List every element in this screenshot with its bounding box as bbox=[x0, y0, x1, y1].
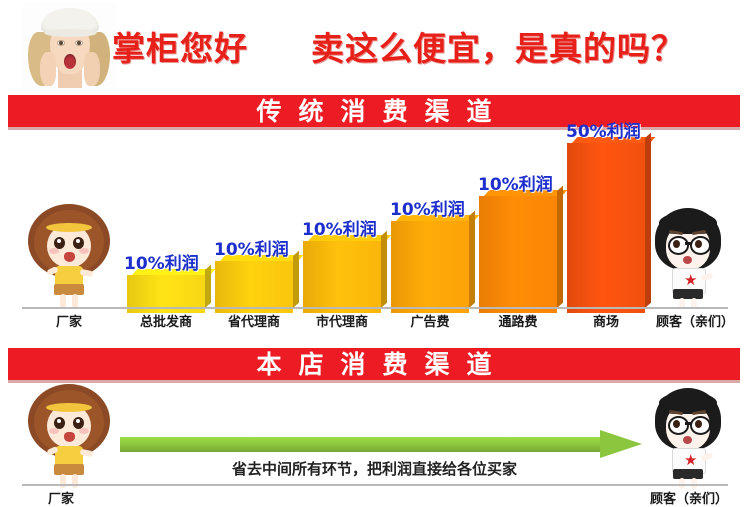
manufacturer-character bbox=[26, 204, 112, 308]
xlabel-manufacturer: 厂家 bbox=[34, 311, 104, 330]
xlabel-1: 省代理商 bbox=[215, 311, 293, 330]
bottom-baseline bbox=[22, 484, 728, 486]
bar-3 bbox=[391, 221, 469, 313]
poster-root: 掌柜您好 卖这么便宜，是真的吗？ 传统消费渠道 bbox=[0, 0, 749, 506]
profit-label-2: 10%利润 bbox=[302, 215, 377, 240]
xlabel-4: 通路费 bbox=[479, 311, 557, 330]
surprised-woman-photo bbox=[22, 2, 116, 88]
xlabel-customer: 顾客（亲们） bbox=[648, 311, 742, 330]
bar-4 bbox=[479, 196, 557, 313]
direct-channel-arrow bbox=[120, 432, 642, 456]
bar-2 bbox=[303, 241, 381, 313]
xlabel-0: 总批发商 bbox=[127, 311, 205, 330]
bottom-label-manufacturer: 厂家 bbox=[48, 488, 74, 507]
xlabel-5: 商场 bbox=[567, 311, 645, 330]
profit-label-0: 10%利润 bbox=[124, 249, 199, 274]
bottom-note: 省去中间所有环节，把利润直接给各位买家 bbox=[0, 458, 749, 479]
profit-label-1: 10%利润 bbox=[214, 235, 289, 260]
header-greeting: 掌柜您好 bbox=[112, 29, 248, 68]
our-store-channel-section: ★ 省去中间所有环节，把利润直接给各位买家 厂家 顾客（亲们） bbox=[0, 382, 749, 506]
bar-5 bbox=[567, 143, 645, 313]
arrow-head-icon bbox=[600, 430, 642, 458]
header: 掌柜您好 卖这么便宜，是真的吗？ bbox=[0, 0, 749, 88]
traditional-channel-chart: ★ 10%利润 10%利润 10%利润 10%利润 10%利润 50%利 bbox=[0, 128, 749, 340]
header-question: 卖这么便宜，是真的吗？ bbox=[311, 29, 685, 68]
banner-our-store-channel: 本店消费渠道 bbox=[8, 348, 740, 380]
header-headline: 掌柜您好 卖这么便宜，是真的吗？ bbox=[112, 22, 685, 70]
xlabel-2: 市代理商 bbox=[303, 311, 381, 330]
chart-baseline bbox=[22, 307, 728, 309]
profit-label-3: 10%利润 bbox=[390, 195, 465, 220]
profit-label-5: 50%利润 bbox=[566, 117, 641, 142]
bottom-label-customer: 顾客（亲们） bbox=[650, 488, 728, 507]
banner-our-store-label: 本店消费渠道 bbox=[8, 349, 740, 380]
bar-1 bbox=[215, 261, 293, 313]
xlabel-3: 广告费 bbox=[391, 311, 469, 330]
profit-label-4: 10%利润 bbox=[478, 170, 553, 195]
customer-character: ★ bbox=[645, 204, 731, 308]
arrow-shaft-icon bbox=[120, 437, 606, 452]
